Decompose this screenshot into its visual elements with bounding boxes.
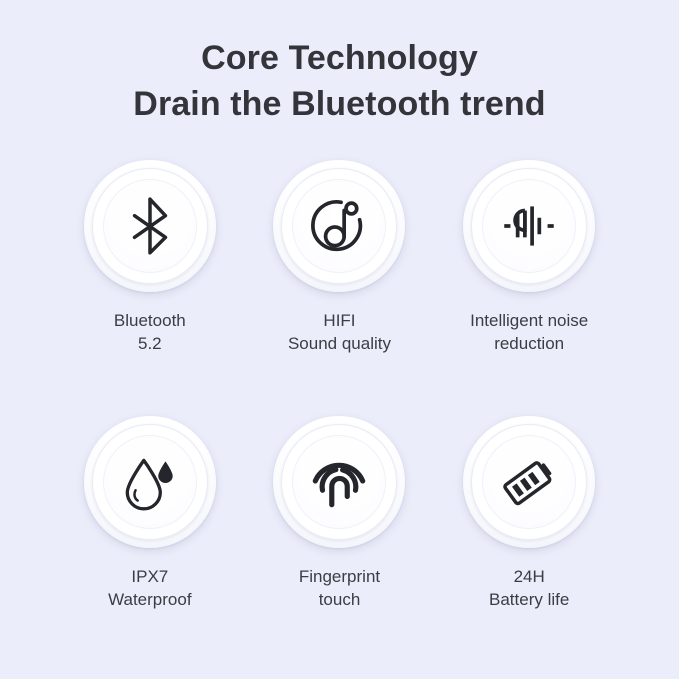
- battery-icon: [496, 449, 562, 515]
- feature-item-battery: 24H Battery life: [434, 416, 624, 672]
- feature-item-hifi: HIFI Sound quality: [245, 160, 435, 416]
- caption-line-2: touch: [299, 588, 380, 611]
- caption-line-2: Battery life: [489, 588, 569, 611]
- fingerprint-icon: [306, 449, 372, 515]
- caption-line-2: Waterproof: [108, 588, 191, 611]
- feature-caption: HIFI Sound quality: [288, 309, 391, 355]
- caption-line-1: HIFI: [288, 309, 391, 332]
- caption-line-1: 24H: [489, 565, 569, 588]
- feature-item-waterproof: IPX7 Waterproof: [55, 416, 245, 672]
- product-feature-banner: Core Technology Drain the Bluetooth tren…: [0, 0, 679, 679]
- feature-caption: Fingerprint touch: [299, 565, 380, 611]
- caption-line-1: IPX7: [108, 565, 191, 588]
- feature-icon-badge: [84, 160, 216, 292]
- title-line-2: Drain the Bluetooth trend: [0, 80, 679, 128]
- feature-icon-badge: [84, 416, 216, 548]
- feature-caption: IPX7 Waterproof: [108, 565, 191, 611]
- music-note-disc-icon: [306, 193, 372, 259]
- caption-line-1: Bluetooth: [114, 309, 186, 332]
- feature-grid: Bluetooth 5.2 HIFI Sound quality: [0, 160, 679, 672]
- caption-line-2: 5.2: [114, 332, 186, 355]
- title-line-1: Core Technology: [0, 36, 679, 80]
- feature-caption: Bluetooth 5.2: [114, 309, 186, 355]
- feature-icon-badge: [273, 160, 405, 292]
- bluetooth-icon: [117, 193, 183, 259]
- feature-icon-badge: [463, 160, 595, 292]
- feature-icon-badge: [273, 416, 405, 548]
- feature-item-fingerprint: Fingerprint touch: [245, 416, 435, 672]
- feature-icon-badge: [463, 416, 595, 548]
- feature-item-bluetooth: Bluetooth 5.2: [55, 160, 245, 416]
- caption-line-1: Fingerprint: [299, 565, 380, 588]
- feature-caption: Intelligent noise reduction: [470, 309, 588, 355]
- feature-item-noise-reduction: Intelligent noise reduction: [434, 160, 624, 416]
- caption-line-2: reduction: [470, 332, 588, 355]
- page-title: Core Technology Drain the Bluetooth tren…: [0, 0, 679, 128]
- caption-line-1: Intelligent noise: [470, 309, 588, 332]
- feature-caption: 24H Battery life: [489, 565, 569, 611]
- water-droplet-icon: [117, 449, 183, 515]
- caption-line-2: Sound quality: [288, 332, 391, 355]
- audio-waveform-icon: [496, 193, 562, 259]
